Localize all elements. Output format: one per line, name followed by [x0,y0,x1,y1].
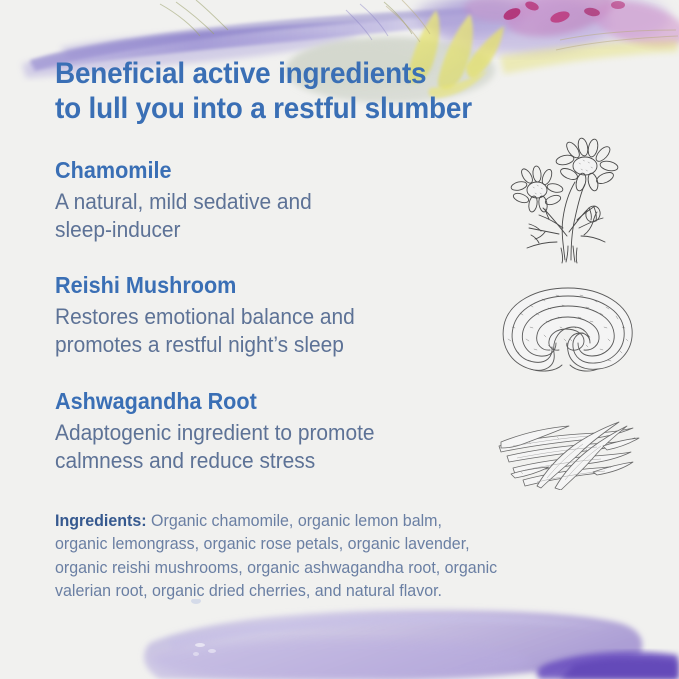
ingredients-statement-line2: organic lemongrass, organic rose petals,… [55,533,618,556]
ingredient-description: Restores emotional balance and promotes … [55,303,502,359]
ingredients-label: Ingredients: [55,512,147,530]
ingredient-description-line2: sleep-inducer [55,216,502,244]
ingredient-description-line2: promotes a restful night’s sleep [55,331,502,359]
chamomile-flowers-illustration [493,136,643,264]
ingredients-statement: Ingredients: Organic chamomile, organic … [55,510,618,604]
ingredient-description-line1: Restores emotional balance and [55,303,502,331]
watercolor-brushstroke-bottom [0,599,679,679]
page-title: Beneficial active ingredients to lull yo… [55,56,576,127]
page-title-line2: to lull you into a restful slumber [55,91,576,126]
ingredients-statement-line1: Ingredients: Organic chamomile, organic … [55,510,618,533]
ingredient-name: Chamomile [55,157,497,185]
ingredient-name: Ashwagandha Root [55,388,497,416]
page-title-line1: Beneficial active ingredients [55,56,576,91]
ingredients-statement-line4: valerian root, organic dried cherries, a… [55,580,618,603]
ingredient-block-reishi-mushroom: Reishi Mushroom Restores emotional balan… [55,272,525,358]
ingredient-description-line2: calmness and reduce stress [55,447,502,475]
reishi-mushroom-illustration [490,283,645,375]
ingredient-name: Reishi Mushroom [55,272,497,300]
ingredient-description: A natural, mild sedative and sleep-induc… [55,188,502,244]
ingredients-statement-line1-text: Organic chamomile, organic lemon balm, [147,512,442,530]
ingredient-description-line1: Adaptogenic ingredient to promote [55,419,502,447]
ingredient-block-ashwagandha-root: Ashwagandha Root Adaptogenic ingredient … [55,388,525,474]
ingredient-block-chamomile: Chamomile A natural, mild sedative and s… [55,157,525,243]
ingredient-description-line1: A natural, mild sedative and [55,188,502,216]
ingredients-statement-line3: organic reishi mushrooms, organic ashwag… [55,557,618,580]
ashwagandha-root-illustration [493,412,645,490]
ingredient-description: Adaptogenic ingredient to promote calmne… [55,419,502,475]
